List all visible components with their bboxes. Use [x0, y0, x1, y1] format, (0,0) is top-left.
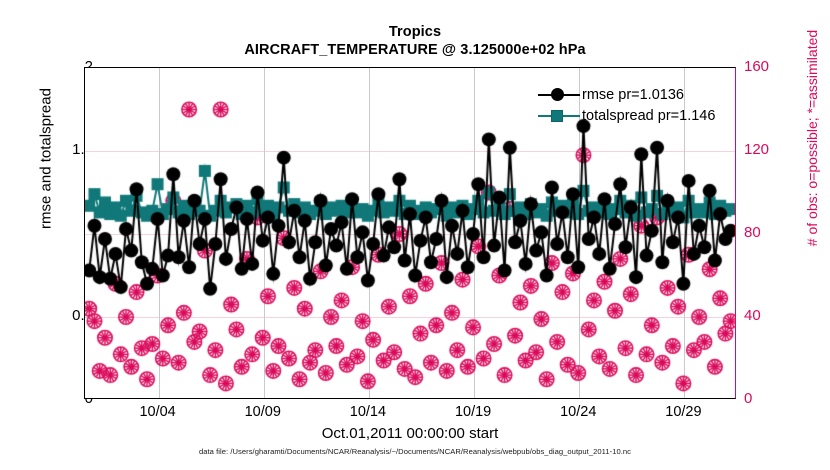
chart-subtitle: AIRCRAFT_TEMPERATURE @ 3.125000e+02 hPa [0, 41, 830, 60]
legend-item-rmse[interactable]: rmse pr=1.0136 [536, 84, 715, 105]
x-tick-label: 10/14 [350, 404, 386, 420]
chart-page: Tropics AIRCRAFT_TEMPERATURE @ 3.125000e… [0, 0, 830, 470]
x-tick-label: 10/04 [139, 404, 175, 420]
x-tick-label: 10/09 [245, 404, 281, 420]
x-tick-label: 10/19 [455, 404, 491, 420]
data-file-caption: data file: /Users/gharamti/Documents/NCA… [0, 447, 830, 456]
y-tick-label-right: 0 [744, 390, 788, 407]
page-title: Tropics [0, 24, 830, 41]
x-axis-label: Oct.01,2011 00:00:00 start [0, 425, 820, 442]
y-tick-label-right: 80 [744, 224, 788, 241]
legend-label-rmse: rmse pr=1.0136 [582, 87, 684, 103]
chart-legend: rmse pr=1.0136 totalspread pr=1.146 [536, 84, 715, 126]
y-tick-label-right: 40 [744, 307, 788, 324]
chart-title-block: Tropics AIRCRAFT_TEMPERATURE @ 3.125000e… [0, 24, 830, 60]
legend-marker-square-icon [536, 105, 582, 126]
y-tick-label-right: 160 [744, 58, 788, 75]
legend-marker-circle-icon [536, 84, 582, 105]
legend-item-totalspread[interactable]: totalspread pr=1.146 [536, 105, 715, 126]
y-axis-label-right: # of obs: o=possible; *=assimilated [804, 0, 820, 278]
x-tick-label: 10/24 [560, 404, 596, 420]
legend-label-totalspread: totalspread pr=1.146 [582, 108, 715, 124]
x-tick-label: 10/29 [665, 404, 701, 420]
y-tick-label-right: 120 [744, 141, 788, 158]
